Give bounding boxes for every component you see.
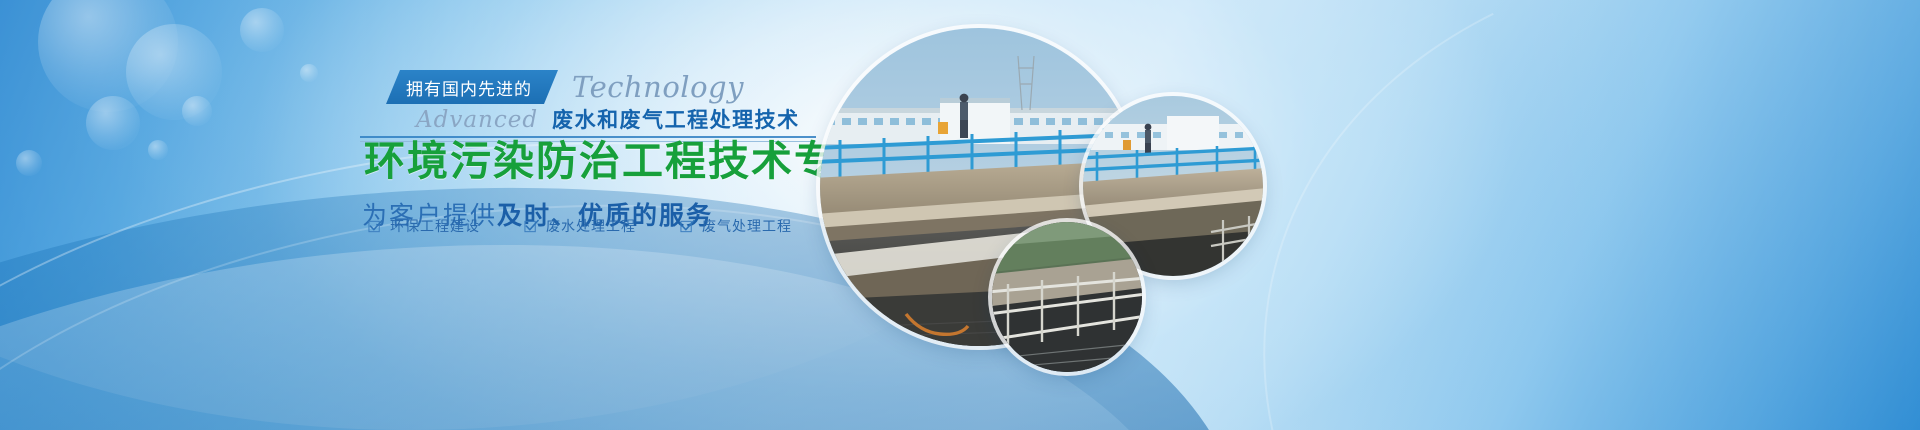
list-item-label: 废气处理工程 [702,216,792,236]
hero-banner: 拥有国内先进的 Technology Advanced 废水和废气工程处理技术 … [0,0,1920,430]
photo-wastewater-plant-small [992,222,1142,372]
list-item-label: 废水处理工程 [546,216,636,236]
list-item[interactable]: 环保工程建设 [368,216,480,236]
decorative-arc-c [1164,0,1920,430]
checkbox-check-icon [524,219,539,234]
list-item-label: 环保工程建设 [390,216,480,236]
checkbox-check-icon [680,219,695,234]
subheading-chinese-text: 废水和废气工程处理技术 [552,104,800,134]
banner-subheading-row: Advanced 废水和废气工程处理技术 [416,104,800,134]
list-item[interactable]: 废气处理工程 [680,216,792,236]
worker-figure [1145,124,1152,155]
service-checklist: 环保工程建设 废水处理工程 废气处理工程 [368,216,792,236]
script-advanced-text: Advanced [416,107,538,133]
plant-photo-illustration [992,222,1142,372]
list-item[interactable]: 废水处理工程 [524,216,636,236]
banner-text-block: 拥有国内先进的 Technology Advanced 废水和废气工程处理技术 … [0,0,830,430]
worker-figure [960,94,969,138]
eyebrow-tag-label: 拥有国内先进的 [406,75,532,100]
checkbox-check-icon [368,219,383,234]
script-technology-text: Technology [572,73,744,102]
right-sheen-overlay [1300,0,1920,430]
banner-eyebrow-row: 拥有国内先进的 Technology [386,70,744,104]
eyebrow-tag: 拥有国内先进的 [386,70,558,104]
